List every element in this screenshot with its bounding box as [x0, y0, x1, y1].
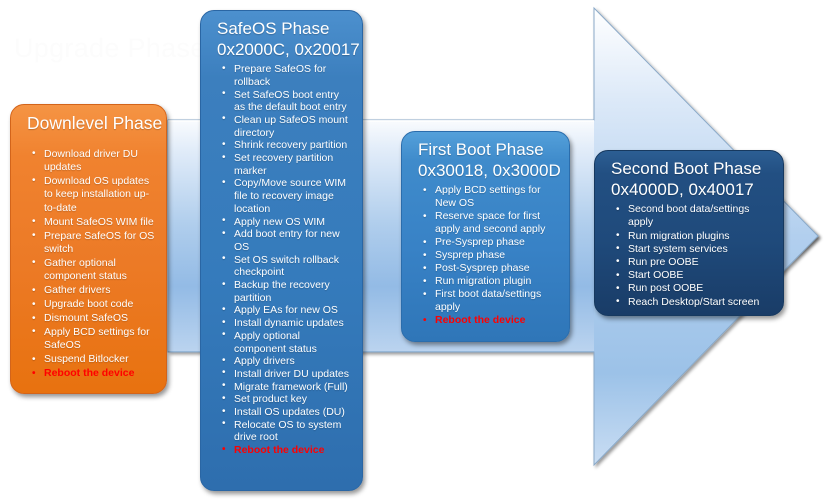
- phase-item: Apply new OS WIM: [221, 216, 352, 229]
- phase-code-second-boot: 0x4000D, 0x40017: [605, 180, 773, 200]
- phase-box-second-boot[interactable]: Second Boot Phase 0x4000D, 0x40017 Secon…: [594, 150, 784, 316]
- phase-item: Reach Desktop/Start screen: [615, 296, 773, 309]
- phase-item: Reserve space for first apply and second…: [422, 210, 559, 236]
- phase-item: Shrink recovery partition: [221, 139, 352, 152]
- phase-item: Relocate OS to system drive root: [221, 419, 352, 444]
- phase-title-downlevel: Downlevel Phase: [21, 113, 156, 134]
- phase-item: Backup the recovery partition: [221, 279, 352, 304]
- phase-item: Apply EAs for new OS: [221, 304, 352, 317]
- phase-item: Prepare SafeOS for rollback: [221, 63, 352, 88]
- phase-item: Apply drivers: [221, 355, 352, 368]
- phase-item: Gather optional component status: [31, 257, 156, 284]
- phase-title-first-boot: First Boot Phase: [412, 140, 559, 160]
- phase-item: Second boot data/settings apply: [615, 203, 773, 229]
- phase-item-reboot: Reboot the device: [422, 314, 559, 327]
- phase-item: Mount SafeOS WIM file: [31, 216, 156, 229]
- diagram-canvas: Upgrade Phases: [0, 0, 825, 501]
- phase-item: Start OOBE: [615, 269, 773, 282]
- phase-item: Dismount SafeOS: [31, 312, 156, 325]
- phase-item: Run migration plugins: [615, 230, 773, 243]
- phase-item: Clean up SafeOS mount directory: [221, 114, 352, 139]
- phase-item: Add boot entry for new OS: [221, 228, 352, 253]
- phase-box-first-boot[interactable]: First Boot Phase 0x30018, 0x3000D Apply …: [401, 131, 570, 342]
- phase-item: Suspend Bitlocker: [31, 353, 156, 366]
- phase-item: Apply BCD settings for SafeOS: [31, 326, 156, 353]
- phase-title-safeos: SafeOS Phase: [211, 19, 352, 39]
- phase-title-second-boot: Second Boot Phase: [605, 159, 773, 179]
- phase-item: Sysprep phase: [422, 249, 559, 262]
- phase-item: Set product key: [221, 393, 352, 406]
- phase-item: Run pre OOBE: [615, 256, 773, 269]
- phase-items-safeos: Prepare SafeOS for rollbackSet SafeOS bo…: [211, 63, 352, 457]
- phase-item: First boot data/settings apply: [422, 288, 559, 314]
- phase-item-reboot: Reboot the device: [31, 367, 156, 380]
- phase-item: Run post OOBE: [615, 282, 773, 295]
- phase-code-first-boot: 0x30018, 0x3000D: [412, 161, 559, 181]
- phase-box-safeos[interactable]: SafeOS Phase 0x2000C, 0x20017 Prepare Sa…: [200, 10, 363, 491]
- phase-item: Migrate framework (Full): [221, 381, 352, 394]
- phase-item: Install dynamic updates: [221, 317, 352, 330]
- phase-box-downlevel[interactable]: Downlevel Phase Download driver DU updat…: [10, 104, 167, 394]
- phase-item: Prepare SafeOS for OS switch: [31, 230, 156, 257]
- phase-item: Apply optional component status: [221, 330, 352, 355]
- phase-item: Set recovery partition marker: [221, 152, 352, 177]
- phase-item: Set OS switch rollback checkpoint: [221, 254, 352, 279]
- phase-item-reboot: Reboot the device: [221, 444, 352, 457]
- phase-item: Copy/Move source WIM file to recovery im…: [221, 177, 352, 215]
- phase-item: Run migration plugin: [422, 275, 559, 288]
- phase-item: Apply BCD settings for New OS: [422, 184, 559, 210]
- phase-item: Download driver DU updates: [31, 148, 156, 175]
- phase-item: Set SafeOS boot entry as the default boo…: [221, 89, 352, 114]
- phase-item: Start system services: [615, 243, 773, 256]
- phase-item: Post-Sysprep phase: [422, 262, 559, 275]
- phase-items-downlevel: Download driver DU updatesDownload OS up…: [21, 148, 156, 381]
- phase-item: Install OS updates (DU): [221, 406, 352, 419]
- phase-item: Gather drivers: [31, 284, 156, 297]
- phase-code-safeos: 0x2000C, 0x20017: [211, 40, 352, 60]
- phase-items-first-boot: Apply BCD settings for New OSReserve spa…: [412, 184, 559, 327]
- phase-item: Download OS updates to keep installation…: [31, 175, 156, 215]
- phase-item: Upgrade boot code: [31, 298, 156, 311]
- phase-item: Install driver DU updates: [221, 368, 352, 381]
- phase-items-second-boot: Second boot data/settings applyRun migra…: [605, 203, 773, 309]
- phase-item: Pre-Sysprep phase: [422, 236, 559, 249]
